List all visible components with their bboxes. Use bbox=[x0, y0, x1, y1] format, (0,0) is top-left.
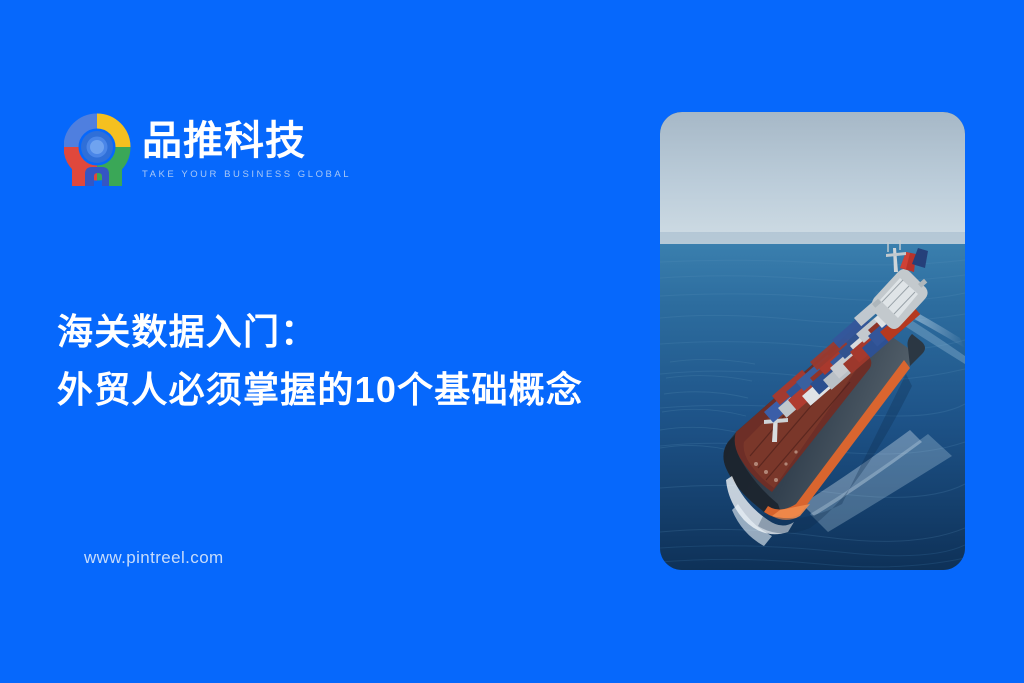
site-url[interactable]: www.pintreel.com bbox=[84, 548, 224, 568]
brand-logo: 品推科技 TAKE YOUR BUSINESS GLOBAL bbox=[64, 112, 351, 186]
pintreel-circular-logo-icon bbox=[64, 112, 132, 186]
brand-tagline: TAKE YOUR BUSINESS GLOBAL bbox=[142, 169, 351, 180]
hero-photo-container-ship bbox=[660, 112, 965, 570]
slide-canvas: 品推科技 TAKE YOUR BUSINESS GLOBAL 海关数据入门： 外… bbox=[0, 0, 1024, 683]
page-title: 海关数据入门： 外贸人必须掌握的10个基础概念 bbox=[57, 303, 657, 419]
page-title-line-1: 海关数据入门： bbox=[57, 303, 657, 361]
page-title-line-2: 外贸人必须掌握的10个基础概念 bbox=[57, 361, 657, 419]
brand-name-cn: 品推科技 bbox=[142, 120, 351, 163]
brand-wordmark: 品推科技 TAKE YOUR BUSINESS GLOBAL bbox=[142, 118, 351, 179]
